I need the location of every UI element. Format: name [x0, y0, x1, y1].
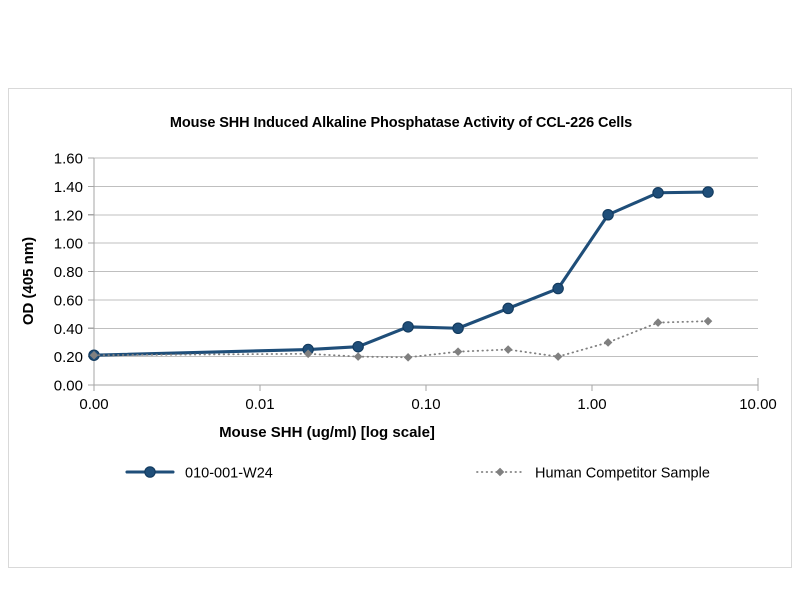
- legend-marker-swatch: [145, 467, 155, 477]
- data-point-marker: [654, 319, 661, 326]
- y-axis-tick-labels: 0.000.200.400.600.801.001.201.401.60: [54, 151, 83, 395]
- x-tick-label: 0.10: [411, 396, 440, 413]
- data-point-marker: [353, 341, 363, 351]
- legend-label: Human Competitor Sample: [535, 466, 710, 482]
- y-tick-label: 1.00: [54, 236, 83, 253]
- data-point-marker: [604, 339, 611, 346]
- data-series-group: [89, 187, 713, 361]
- data-point-marker: [505, 346, 512, 353]
- y-tick-label: 1.40: [54, 179, 83, 196]
- data-series: [89, 187, 713, 361]
- y-tick-label: 0.60: [54, 292, 83, 309]
- x-tick-label: 0.00: [79, 396, 108, 413]
- data-point-marker: [355, 353, 362, 360]
- data-point-marker: [704, 318, 711, 325]
- data-point-marker: [703, 187, 713, 197]
- chart-container: Mouse SHH Induced Alkaline Phosphatase A…: [8, 88, 792, 568]
- x-tick-label: 0.01: [245, 396, 274, 413]
- y-tick-label: 1.60: [54, 151, 83, 168]
- y-tick-label: 0.80: [54, 264, 83, 281]
- legend-marker-swatch: [496, 468, 503, 475]
- x-tick-label: 10.00: [739, 396, 777, 413]
- legend-label: 010-001-W24: [185, 466, 273, 482]
- y-tick-label: 0.40: [54, 321, 83, 338]
- data-point-marker: [404, 354, 411, 361]
- data-point-marker: [453, 323, 463, 333]
- data-point-marker: [454, 348, 461, 355]
- chart-plot-area: 0.000.200.400.600.801.001.201.401.60 0.0…: [9, 89, 793, 569]
- data-point-marker: [653, 188, 663, 198]
- chart-legend: 010-001-W24Human Competitor Sample: [127, 466, 710, 482]
- x-tick-label: 1.00: [577, 396, 606, 413]
- data-series: [90, 318, 711, 361]
- x-axis-title: Mouse SHH (ug/ml) [log scale]: [219, 424, 435, 441]
- data-point-marker: [553, 283, 563, 293]
- data-point-marker: [555, 353, 562, 360]
- data-point-marker: [403, 322, 413, 332]
- y-tick-label: 1.20: [54, 207, 83, 224]
- y-tick-label: 0.20: [54, 349, 83, 366]
- y-axis-title: OD (405 nm): [20, 237, 37, 325]
- data-point-marker: [603, 210, 613, 220]
- x-axis-tick-labels: 0.000.010.101.0010.00: [79, 396, 776, 413]
- data-point-marker: [503, 303, 513, 313]
- y-tick-label: 0.00: [54, 378, 83, 395]
